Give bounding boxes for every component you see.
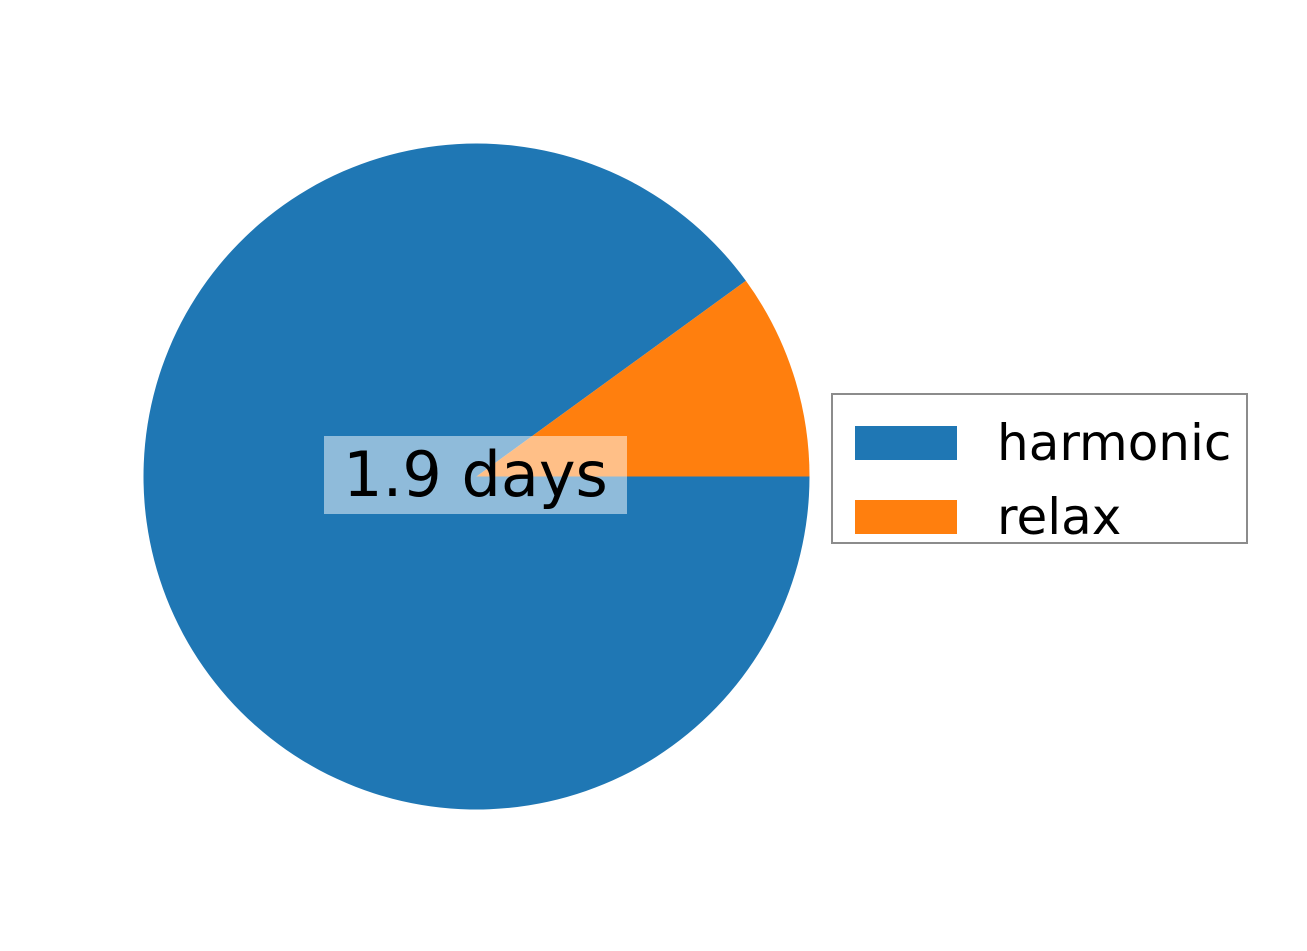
legend-label-relax: relax: [997, 492, 1121, 542]
pie-center-value-label: 1.9 days: [324, 436, 627, 514]
figure-canvas: 1.9 days harmonic relax: [0, 0, 1307, 951]
legend-entry-harmonic[interactable]: harmonic: [855, 418, 1231, 468]
legend-swatch-relax: [855, 500, 957, 534]
legend-label-harmonic: harmonic: [997, 418, 1231, 468]
pie-center-value-text: 1.9 days: [343, 444, 608, 506]
chart-legend: harmonic relax: [831, 393, 1248, 544]
legend-swatch-harmonic: [855, 426, 957, 460]
legend-entry-relax[interactable]: relax: [855, 492, 1121, 542]
